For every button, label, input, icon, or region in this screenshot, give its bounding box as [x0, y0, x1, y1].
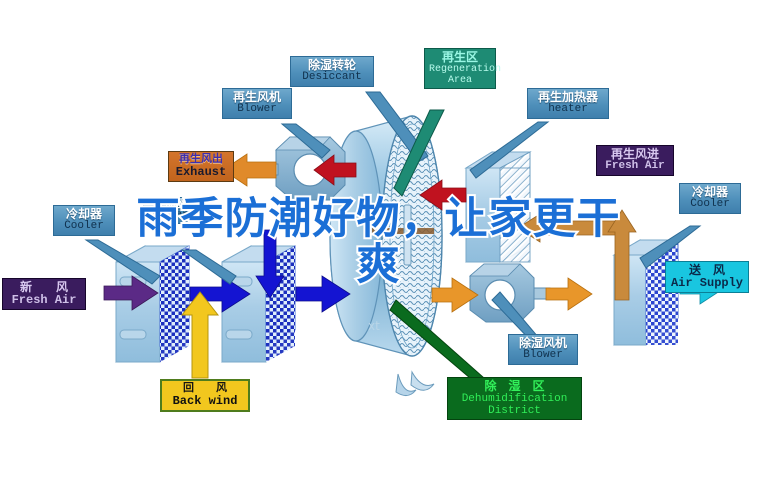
label-cooler-right-en: Cooler — [684, 199, 736, 211]
label-air-supply-cn: 送 风 — [670, 264, 744, 277]
dehumidifier-schematic-art: xt — [0, 0, 757, 488]
label-cooler-left[interactable]: 冷却器 Cooler — [53, 205, 115, 236]
label-back-wind[interactable]: 回 风 Back wind — [160, 379, 250, 412]
label-fresh-air-left[interactable]: 新 风 Fresh Air — [2, 278, 86, 310]
label-fresh-air-left-cn: 新 风 — [7, 281, 81, 294]
label-air-supply-en: Air Supply — [670, 277, 744, 290]
label-dehumidification-blower[interactable]: 除湿风机 Blower — [508, 334, 578, 365]
label-desiccant[interactable]: 除湿转轮 Desiccant — [290, 56, 374, 87]
label-regeneration-area-en: Regeneration Area — [429, 64, 491, 86]
label-regeneration-heater-en: heater — [532, 104, 604, 116]
label-cooler-mid[interactable]: 冷却器 Cooler — [143, 197, 197, 224]
label-regeneration-blower-en: Blower — [227, 104, 287, 116]
label-dehumidification-district-cn: 除 湿 区 — [452, 380, 577, 393]
label-fresh-air-left-en: Fresh Air — [7, 294, 81, 307]
label-regeneration-blower-cn: 再生风机 — [227, 91, 287, 104]
label-regeneration-heater-cn: 再生加热器 — [532, 91, 604, 104]
label-cooler-right[interactable]: 冷却器 Cooler — [679, 183, 741, 214]
label-exhaust[interactable]: 再生风出 Exhaust — [168, 151, 234, 182]
label-cooler-left-cn: 冷却器 — [58, 208, 110, 221]
label-dehumidification-blower-cn: 除湿风机 — [513, 337, 573, 350]
label-back-wind-en: Back wind — [166, 395, 244, 408]
label-regeneration-blower[interactable]: 再生风机 Blower — [222, 88, 292, 119]
label-regeneration-area[interactable]: 再生区 Regeneration Area — [424, 48, 496, 89]
label-regeneration-area-cn: 再生区 — [429, 51, 491, 64]
label-dehumidification-blower-en: Blower — [513, 350, 573, 362]
arrow-blower-to-cooler — [546, 278, 592, 310]
watermark-text: xt — [368, 319, 380, 333]
label-air-supply[interactable]: 送 风 Air Supply — [665, 261, 749, 293]
label-desiccant-cn: 除湿转轮 — [295, 59, 369, 72]
label-cooler-mid-en: Cooler — [147, 211, 193, 222]
label-dehumidification-district-en: Dehumidification District — [452, 393, 577, 417]
label-regeneration-heater[interactable]: 再生加热器 heater — [527, 88, 609, 119]
label-cooler-left-en: Cooler — [58, 221, 110, 233]
label-exhaust-en: Exhaust — [173, 166, 229, 179]
label-dehumidification-district[interactable]: 除 湿 区 Dehumidification District — [447, 377, 582, 420]
label-fresh-air-right[interactable]: 再生风进 Fresh Air — [596, 145, 674, 176]
arrow-regen-fresh-air-in — [518, 214, 626, 242]
label-desiccant-en: Desiccant — [295, 72, 369, 84]
label-fresh-air-right-en: Fresh Air — [601, 161, 669, 173]
label-cooler-right-cn: 冷却器 — [684, 186, 736, 199]
diagram-canvas: xt 除湿转轮 Desiccant 再生风机 Blower 再生风出 Exhau… — [0, 0, 757, 488]
label-fresh-air-right-cn: 再生风进 — [601, 148, 669, 161]
